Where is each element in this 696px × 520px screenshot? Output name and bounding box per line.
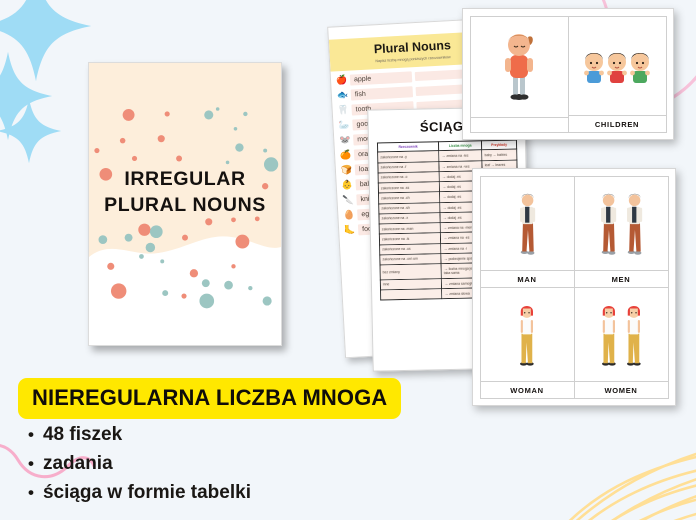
arrow-icon: → <box>443 235 447 240</box>
cell-noun <box>381 288 442 300</box>
arrow-icon: → <box>444 281 448 286</box>
flashcard-label: WOMAN <box>481 381 574 398</box>
bullet-marker-icon: • <box>28 426 34 443</box>
worksheet-item-icon: 🍎 <box>336 76 347 86</box>
worksheet-item-icon: 🦷 <box>337 106 348 116</box>
headline-highlight: NIEREGULARNA LICZBA MNOGA <box>18 378 401 419</box>
men-illustration-icon <box>575 177 668 270</box>
scribble-decoration <box>532 420 696 520</box>
cover-title-line2: PLURAL NOUNS <box>89 193 281 219</box>
flashcard-cell[interactable]: MAN <box>480 176 575 288</box>
arrow-icon: → <box>442 205 446 210</box>
woman-illustration-icon <box>481 288 574 381</box>
feature-bullet: •ściąga w formie tabelki <box>28 482 251 504</box>
man-illustration-icon <box>481 177 574 270</box>
arrow-icon: → <box>444 256 448 261</box>
worksheet-item-icon: 🦢 <box>338 121 349 131</box>
women-illustration-icon <box>575 288 668 381</box>
children-illustration-icon <box>569 17 666 115</box>
flashcard-cell[interactable]: WOMEN <box>574 287 669 399</box>
flashcard-label: MEN <box>575 270 668 287</box>
flashcard-cell[interactable]: MEN <box>574 176 669 288</box>
worksheet-item-word: apple <box>350 71 413 85</box>
arrow-icon: → <box>442 164 446 169</box>
cell-example: baby → babies <box>482 149 517 160</box>
feature-bullet-label: zadania <box>43 453 113 475</box>
bullet-marker-icon: • <box>28 455 34 472</box>
worksheet-item-icon: 🔪 <box>342 196 353 206</box>
headline-text: NIEREGULARNA LICZBA MNOGA <box>32 385 387 411</box>
worksheet-item-word: fish <box>351 86 414 100</box>
arrow-icon: → <box>443 225 447 230</box>
cover-card[interactable]: IRREGULAR PLURAL NOUNS <box>88 62 282 346</box>
flashcard-label: MAN <box>481 270 574 287</box>
arrow-icon: → <box>443 246 447 251</box>
flashcard-grid-top: CHILDREN <box>470 16 666 132</box>
worksheet-item-icon: 🥚 <box>343 211 354 221</box>
worksheet-item-icon: 🐭 <box>339 136 350 146</box>
arrow-icon: → <box>444 266 448 271</box>
cell-noun: bez zmiany <box>380 264 441 280</box>
feature-bullet-label: 48 fiszek <box>43 424 122 446</box>
arrow-icon: → <box>442 174 446 179</box>
sparkle-icon <box>0 96 64 166</box>
cover-title: IRREGULAR PLURAL NOUNS <box>89 167 281 219</box>
worksheet-item-icon: 🦶 <box>344 226 355 236</box>
feature-bullet-list: •48 fiszek•zadania•ściąga w formie tabel… <box>28 424 251 511</box>
flashcard-label <box>471 117 568 132</box>
arrow-icon: → <box>441 153 445 158</box>
bullet-marker-icon: • <box>28 484 34 501</box>
child-illustration-icon <box>471 17 568 117</box>
flashcard-grid-bottom: MANMENWOMANWOMEN <box>480 176 668 398</box>
flashcard-label: CHILDREN <box>569 115 666 132</box>
arrow-icon: → <box>444 291 448 296</box>
worksheet-item-icon: 🐟 <box>337 91 348 101</box>
arrow-icon: → <box>442 194 446 199</box>
flashcard-cell[interactable]: WOMAN <box>480 287 575 399</box>
sparkle-icon <box>0 0 96 86</box>
feature-bullet-label: ściąga w formie tabelki <box>43 482 251 504</box>
poster-canvas: IRREGULAR PLURAL NOUNS Plural Nouns Napi… <box>0 0 696 520</box>
flashcard-sheet-man-woman[interactable]: MANMENWOMANWOMEN <box>472 168 676 406</box>
flashcard-sheet-children[interactable]: CHILDREN <box>462 8 674 140</box>
worksheet-item-icon: 👶 <box>342 181 353 191</box>
flashcard-label: WOMEN <box>575 381 668 398</box>
worksheet-item-icon: 🍞 <box>341 166 352 176</box>
cover-title-line1: IRREGULAR <box>89 167 281 193</box>
sparkle-icon <box>0 48 56 144</box>
feature-bullet: •zadania <box>28 453 251 475</box>
arrow-icon: → <box>442 184 446 189</box>
worksheet-item-icon: 🍊 <box>340 151 351 161</box>
arrow-icon: → <box>443 215 447 220</box>
flashcard-cell[interactable]: CHILDREN <box>568 16 667 133</box>
feature-bullet: •48 fiszek <box>28 424 251 446</box>
flashcard-cell[interactable] <box>470 16 569 133</box>
